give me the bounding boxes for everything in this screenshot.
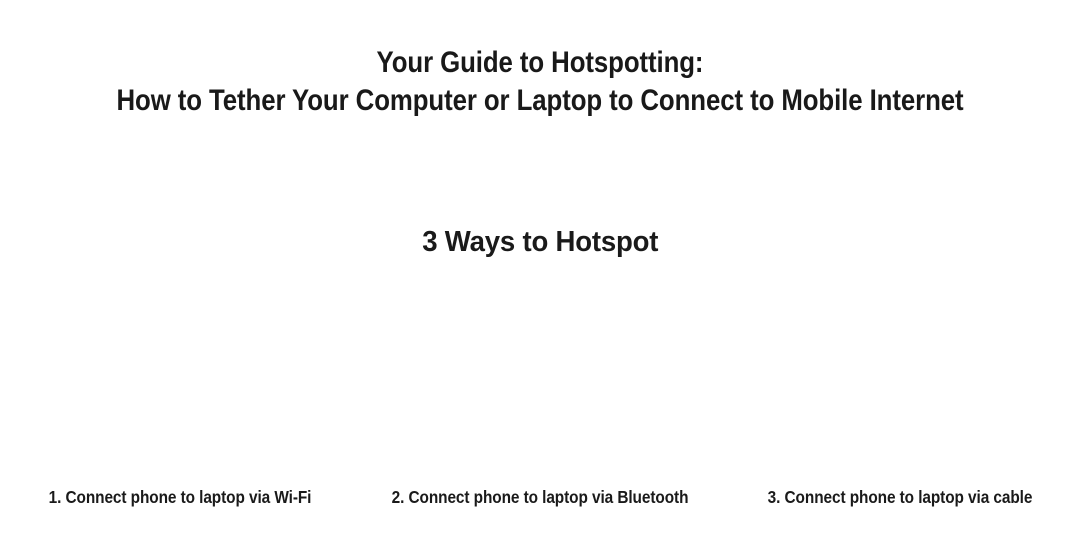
page-title: Your Guide to Hotspotting: How to Tether…	[0, 44, 1080, 120]
section-heading-text: 3 Ways to Hotspot	[422, 222, 658, 262]
infographic-page: Your Guide to Hotspotting: How to Tether…	[0, 0, 1080, 552]
caption-method-1: 1. Connect phone to laptop via Wi-Fi	[22, 486, 339, 508]
page-title-line-2: How to Tether Your Computer or Laptop to…	[76, 82, 1005, 120]
illustration-wifi	[0, 286, 360, 476]
page-title-line-1: Your Guide to Hotspotting:	[76, 44, 1005, 82]
illustration-cable	[720, 286, 1080, 476]
section-heading: 3 Ways to Hotspot	[0, 222, 1080, 262]
illustration-bluetooth	[360, 286, 720, 476]
caption-method-2: 2. Connect phone to laptop via Bluetooth	[382, 486, 699, 508]
caption-row: 1. Connect phone to laptop via Wi-Fi 2. …	[0, 486, 1080, 514]
illustration-row	[0, 286, 1080, 476]
caption-method-3: 3. Connect phone to laptop via cable	[742, 486, 1059, 508]
